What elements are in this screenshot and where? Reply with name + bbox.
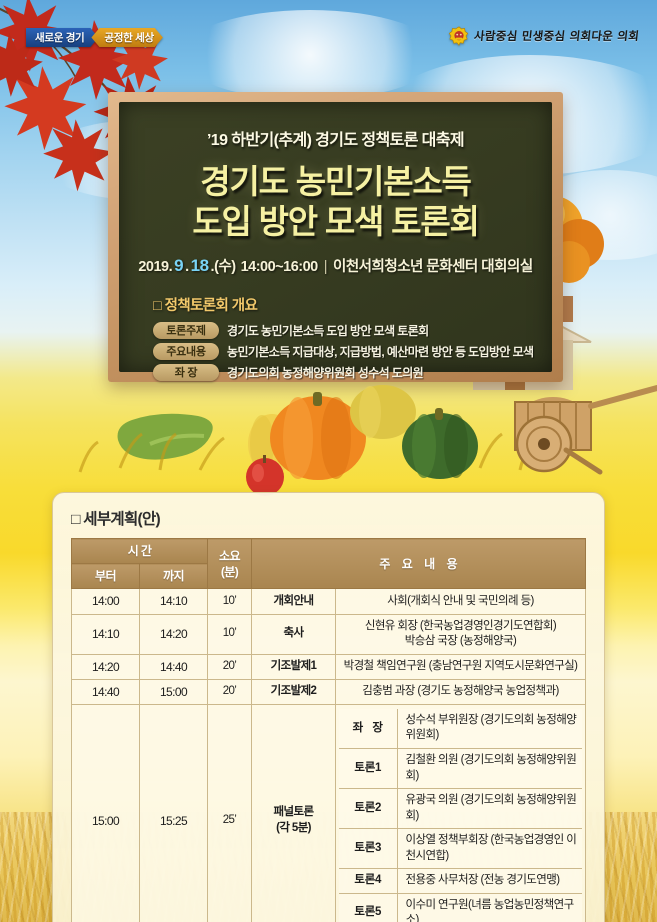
row-description: 신현유 회장 (한국농업경영인경기도연합회) 박승삼 국장 (농정해양국) <box>336 614 586 654</box>
event-year: 2019. <box>138 259 172 275</box>
panel-speaker-name: 이수미 연구원(녀름 농업농민정책연구소) <box>397 893 582 922</box>
event-venue: 이천서희청소년 문화센터 대회의실 <box>333 255 533 276</box>
row-description: 김충범 과장 (경기도 농정해양국 농업정책과) <box>336 679 586 704</box>
event-time: 14:00~16:00 <box>241 259 318 275</box>
row-to: 14:20 <box>140 614 208 654</box>
gyeonggi-assembly-emblem-icon <box>449 26 469 46</box>
row-to: 14:40 <box>140 654 208 679</box>
overview-text: 경기도 농민기본소득 도입 방안 모색 토론회 <box>227 322 429 339</box>
table-row: 14:10 14:20 10’ 축사 신현유 회장 (한국농업경영인경기도연합회… <box>72 614 586 654</box>
overview-heading: □ 정책토론회 개요 <box>153 294 536 315</box>
panel-speaker-name: 유광국 의원 (경기도의회 농정해양위원회) <box>397 789 582 829</box>
row-description: 박경철 책임연구원 (충남연구원 지역도시문화연구실) <box>336 654 586 679</box>
row-description: 사회(개회식 안내 및 국민의례 등) <box>336 589 586 614</box>
panel-speaker-row: 토론3 이상열 정책부회장 (한국농업경영인 이천시연합) <box>339 829 582 869</box>
assembly-logo-text: 사람중심 민생중심 의회다운 의회 <box>473 28 640 44</box>
panel-speaker-name: 전용중 사무처장 (전농 경기도연맹) <box>397 869 582 894</box>
row-to: 14:10 <box>140 589 208 614</box>
row-topic: 기조발제1 <box>252 654 336 679</box>
slogan-badge: 새로운 경기 공정한 세상 <box>26 28 163 47</box>
row-to: 15:00 <box>140 679 208 704</box>
row-from: 14:10 <box>72 614 140 654</box>
event-datetime-venue: 2019. 9 . 18 .(수) 14:00~16:00 | 이천서희청소년 … <box>138 255 532 276</box>
header-content: 주 요 내 용 <box>252 539 586 589</box>
panel-speaker-row: 좌 장 성수석 부위원장 (경기도의회 농정해양위원회) <box>339 709 582 749</box>
schedule-title: □ 세부계획(안) <box>71 507 586 529</box>
panel-speakers-table: 좌 장 성수석 부위원장 (경기도의회 농정해양위원회) 토론1 김철환 의원 … <box>339 709 582 922</box>
header-duration: 소요 (분) <box>208 539 252 589</box>
assembly-logo: 사람중심 민생중심 의회다운 의회 <box>449 26 639 46</box>
blackboard-surface: ’19 하반기(추계) 경기도 정책토론 대축제 경기도 농민기본소득 도입 방… <box>119 102 552 372</box>
panel-role-label: 토론5 <box>339 893 397 922</box>
panel-role-label: 토론4 <box>339 869 397 894</box>
panel-role-label: 토론2 <box>339 789 397 829</box>
schedule-panel: □ 세부계획(안) 시 간 소요 (분) 주 요 내 용 부터 까지 <box>52 492 605 922</box>
panel-speaker-row: 토론2 유광국 의원 (경기도의회 농정해양위원회) <box>339 789 582 829</box>
event-title-line-2: 도입 방안 모색 토론회 <box>192 202 478 242</box>
badge-segment-new-gyeonggi: 새로운 경기 <box>26 28 98 47</box>
panel-speaker-name: 이상열 정책부회장 (한국농업경영인 이천시연합) <box>397 829 582 869</box>
row-from: 14:40 <box>72 679 140 704</box>
row-duration: 10’ <box>208 614 252 654</box>
header-duration-line-1: 소요 <box>219 549 240 563</box>
overview-tag: 토론주제 <box>153 322 219 339</box>
row-topic: 개회안내 <box>252 589 336 614</box>
row-from: 15:00 <box>72 704 140 922</box>
panel-speaker-name: 성수석 부위원장 (경기도의회 농정해양위원회) <box>397 709 582 749</box>
table-row-panel-discussion: 15:00 15:25 25’ 패널토론 (각 5분) 좌 장 성수석 부위원장… <box>72 704 586 922</box>
row-topic: 축사 <box>252 614 336 654</box>
blackboard: ’19 하반기(추계) 경기도 정책토론 대축제 경기도 농민기본소득 도입 방… <box>108 92 563 382</box>
row-topic: 기조발제2 <box>252 679 336 704</box>
event-day: 18 <box>189 256 211 276</box>
badge-segment-fair-world: 공정한 세상 <box>91 28 162 47</box>
panel-role-label: 토론1 <box>339 749 397 789</box>
row-to: 15:25 <box>140 704 208 922</box>
row-from: 14:20 <box>72 654 140 679</box>
panel-speakers-cell: 좌 장 성수석 부위원장 (경기도의회 농정해양위원회) 토론1 김철환 의원 … <box>336 704 586 922</box>
row-from: 14:00 <box>72 589 140 614</box>
event-series-label: ’19 하반기(추계) 경기도 정책토론 대축제 <box>207 126 464 150</box>
panel-speaker-row: 토론4 전용중 사무처장 (전농 경기도연맹) <box>339 869 582 894</box>
row-duration: 20’ <box>208 679 252 704</box>
harvest-produce-illustration <box>0 340 657 500</box>
poster-canvas: 새로운 경기 공정한 세상 사람중심 민생중심 의회다운 의회 ’19 하반기(… <box>0 0 657 922</box>
panel-speaker-row: 토론5 이수미 연구원(녀름 농업농민정책연구소) <box>339 893 582 922</box>
overview-row: 토론주제 경기도 농민기본소득 도입 방안 모색 토론회 <box>153 322 536 339</box>
header-from: 부터 <box>72 564 140 589</box>
event-title-line-1: 경기도 농민기본소득 <box>200 162 470 202</box>
event-day-suffix: .(수) <box>211 255 236 276</box>
table-row: 14:00 14:10 10’ 개회안내 사회(개회식 안내 및 국민의례 등) <box>72 589 586 614</box>
header-duration-line-2: (분) <box>221 565 238 579</box>
table-header-row-1: 시 간 소요 (분) 주 요 내 용 <box>72 539 586 564</box>
panel-speaker-row: 토론1 김철환 의원 (경기도의회 농정해양위원회) <box>339 749 582 789</box>
row-duration: 10’ <box>208 589 252 614</box>
panel-role-label: 좌 장 <box>339 709 397 749</box>
panel-speaker-name: 김철환 의원 (경기도의회 농정해양위원회) <box>397 749 582 789</box>
panel-role-label: 토론3 <box>339 829 397 869</box>
table-row: 14:40 15:00 20’ 기조발제2 김충범 과장 (경기도 농정해양국 … <box>72 679 586 704</box>
event-month: 9 <box>172 256 185 276</box>
table-row: 14:20 14:40 20’ 기조발제1 박경철 책임연구원 (충남연구원 지… <box>72 654 586 679</box>
header-time-group: 시 간 <box>72 539 208 564</box>
schedule-table: 시 간 소요 (분) 주 요 내 용 부터 까지 14:00 14:10 10’ <box>71 538 586 922</box>
datetime-separator: | <box>318 259 333 275</box>
row-duration: 20’ <box>208 654 252 679</box>
row-duration: 25’ <box>208 704 252 922</box>
header-to: 까지 <box>140 564 208 589</box>
row-topic: 패널토론 (각 5분) <box>252 704 336 922</box>
